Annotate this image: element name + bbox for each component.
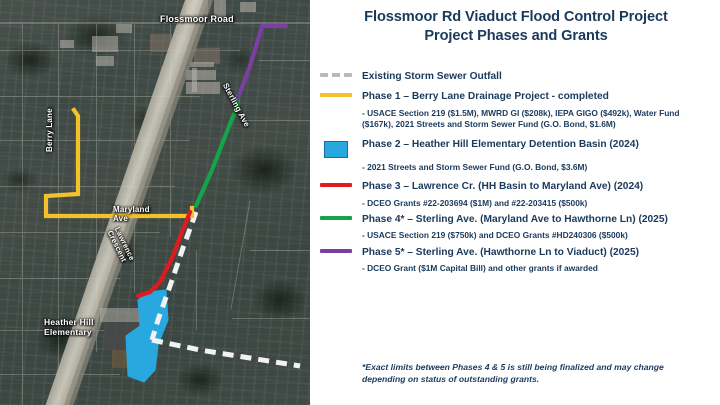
phase1-berry-lane-route [46,110,192,216]
legend-footnote: *Exact limits between Phases 4 & 5 is st… [362,362,706,385]
swatch-cell [310,246,362,253]
legend-label-outfall: Existing Storm Sewer Outfall [362,70,514,83]
legend-label-phase1: Phase 1 – Berry Lane Drainage Project - … [362,90,621,103]
map-label-berry-lane: Berry Lane [46,108,55,152]
slide-root: Flossmoor Road Berry Lane Maryland Ave S… [0,0,720,405]
grant-text: - DCEO Grant ($1M Capital Bill) and othe… [362,263,706,275]
grant-text: - 2021 Streets and Storm Sewer Fund (G.O… [362,162,706,174]
legend-panel: Flossmoor Rd Viaduct Flood Control Proje… [310,0,720,405]
legend-label-phase5: Phase 5* – Sterling Ave. (Hawthorne Ln t… [362,246,651,259]
existing-storm-sewer-outfall-line [152,212,196,340]
red-line-swatch-icon [320,183,352,187]
map-label-heather-hill-elementary: Heather Hill Elementary [44,318,94,337]
legend-item-phase2[interactable]: Phase 2 – Heather Hill Elementary Detent… [310,138,720,158]
dashed-line-swatch-icon [320,73,352,77]
swatch-cell [310,138,362,158]
map-label-maryland-ave: Maryland Ave [113,206,150,224]
aerial-map-panel[interactable]: Flossmoor Road Berry Lane Maryland Ave S… [0,0,310,405]
purple-line-swatch-icon [320,249,352,253]
grants-phase4: - USACE Section 219 ($750k) and DCEO Gra… [310,230,720,242]
title-line-1: Flossmoor Rd Viaduct Flood Control Proje… [324,8,708,27]
legend-item-phase1[interactable]: Phase 1 – Berry Lane Drainage Project - … [310,90,720,103]
grants-phase2: - 2021 Streets and Storm Sewer Fund (G.O… [310,162,720,174]
yellow-line-swatch-icon [320,93,352,97]
title-line-2: Project Phases and Grants [324,27,708,46]
page-title: Flossmoor Rd Viaduct Flood Control Proje… [324,8,708,45]
swatch-cell [310,70,362,77]
legend-label-phase4: Phase 4* – Sterling Ave. (Maryland Ave t… [362,213,680,226]
blue-box-swatch-icon [324,141,348,158]
phase5-sterling-ave-route [238,26,286,98]
grant-text: - DCEO Grants #22-203694 ($1M) and #22-2… [362,198,706,210]
grants-phase3: - DCEO Grants #22-203694 ($1M) and #22-2… [310,198,720,210]
project-routes-overlay [0,0,310,405]
existing-storm-sewer-outfall-line-east [152,340,300,366]
grant-text: - USACE Section 219 ($1.5M), MWRD GI ($2… [362,108,706,131]
grants-phase1: - USACE Section 219 ($1.5M), MWRD GI ($2… [310,108,720,131]
grant-text: - USACE Section 219 ($750k) and DCEO Gra… [362,230,706,242]
phase4-sterling-ave-route [196,96,238,206]
legend-item-phase4[interactable]: Phase 4* – Sterling Ave. (Maryland Ave t… [310,213,720,226]
legend-label-phase2: Phase 2 – Heather Hill Elementary Detent… [362,138,651,151]
green-line-swatch-icon [320,216,352,220]
legend-label-phase3: Phase 3 – Lawrence Cr. (HH Basin to Mary… [362,180,655,193]
grants-phase5: - DCEO Grant ($1M Capital Bill) and othe… [310,263,720,275]
swatch-cell [310,180,362,187]
map-label-flossmoor-road: Flossmoor Road [160,14,234,24]
legend-item-outfall[interactable]: Existing Storm Sewer Outfall [310,70,720,83]
legend-item-phase3[interactable]: Phase 3 – Lawrence Cr. (HH Basin to Mary… [310,180,720,193]
swatch-cell [310,90,362,97]
legend-item-phase5[interactable]: Phase 5* – Sterling Ave. (Hawthorne Ln t… [310,246,720,259]
legend-list: Existing Storm Sewer Outfall Phase 1 – B… [310,70,720,275]
swatch-cell [310,213,362,220]
